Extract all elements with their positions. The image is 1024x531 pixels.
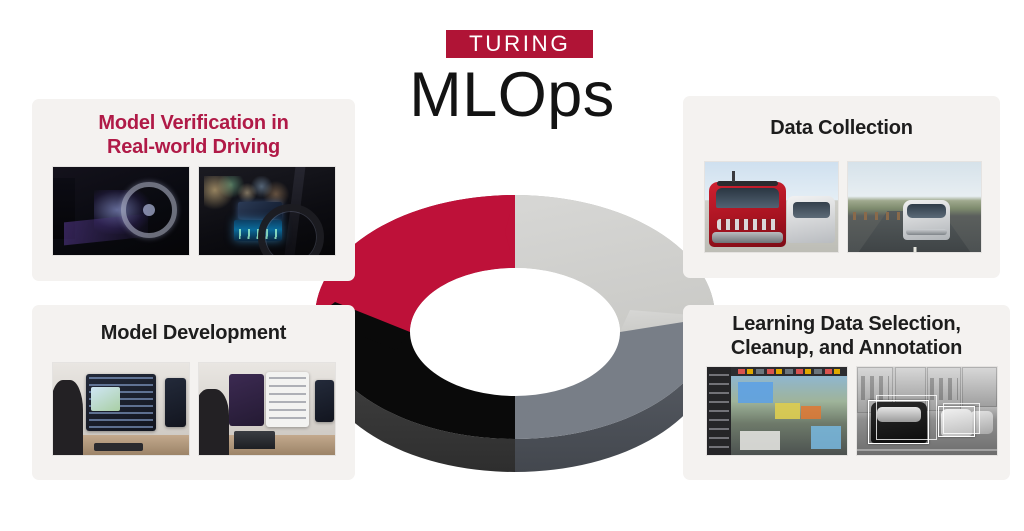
thumbnail-row: [53, 167, 335, 255]
slide-canvas: TURING MLOps: [0, 0, 1024, 531]
image-night-city-driving: [199, 167, 335, 255]
thumbnail-row: [707, 367, 997, 455]
turing-logo-text: TURING: [469, 33, 570, 55]
thumbnail-row: [705, 162, 981, 252]
thumbnail-row: [53, 363, 335, 455]
panel-title-learning-data-selection: Learning Data Selection, Cleanup, and An…: [683, 312, 1010, 361]
panel-learning-data-selection: Learning Data Selection, Cleanup, and An…: [683, 305, 1010, 480]
panel-model-development: Model Development: [32, 305, 355, 480]
image-engineer-workstation: [53, 363, 189, 455]
panel-title-model-development: Model Development: [32, 321, 355, 345]
image-street-3d-bounding-boxes: [857, 367, 997, 455]
donut-hole: [410, 268, 620, 396]
panel-title-model-verification: Model Verification in Real-world Driving: [32, 111, 355, 160]
image-developer-laptop-monitors: [199, 363, 335, 455]
image-annotation-tool-segmentation: [707, 367, 847, 455]
panel-data-collection: Data Collection: [683, 96, 1000, 278]
image-night-driving-cockpit: [53, 167, 189, 255]
turing-logo: TURING: [446, 30, 593, 58]
panel-title-data-collection: Data Collection: [683, 116, 1000, 140]
image-silver-car-coastal-road: [848, 162, 981, 252]
mlops-cycle-donut-chart: [300, 160, 730, 480]
image-red-suv-sensor-rack: [705, 162, 838, 252]
panel-model-verification: Model Verification in Real-world Driving: [32, 99, 355, 281]
